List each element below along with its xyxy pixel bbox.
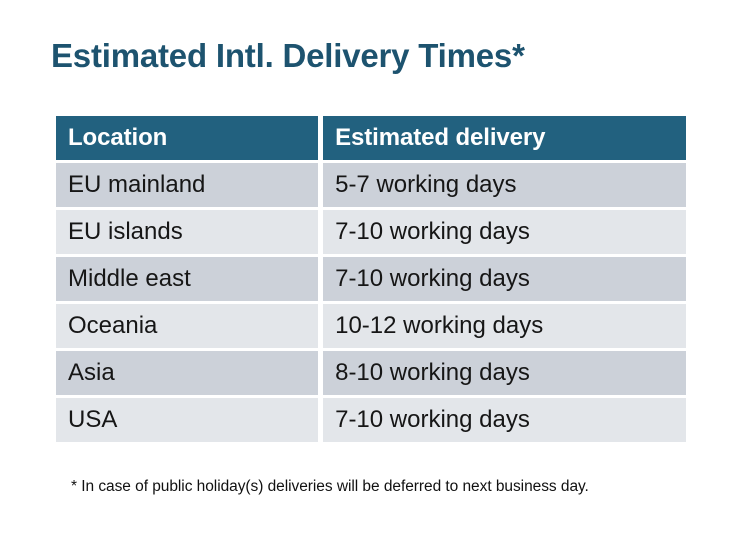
cell-delivery: 7-10 working days [323, 257, 686, 301]
cell-location: Middle east [56, 257, 318, 301]
cell-location: USA [56, 398, 318, 442]
cell-delivery: 7-10 working days [323, 210, 686, 254]
cell-location: Oceania [56, 304, 318, 348]
cell-location: EU islands [56, 210, 318, 254]
footnote: * In case of public holiday(s) deliverie… [71, 478, 589, 496]
table-body: EU mainland 5-7 working days EU islands … [56, 163, 686, 442]
cell-delivery: 5-7 working days [323, 163, 686, 207]
cell-delivery: 10-12 working days [323, 304, 686, 348]
cell-location: Asia [56, 351, 318, 395]
table-header-row: Location Estimated delivery [56, 116, 686, 160]
table-row: EU islands 7-10 working days [56, 210, 686, 254]
column-header-estimated-delivery: Estimated delivery [323, 116, 686, 160]
table-row: USA 7-10 working days [56, 398, 686, 442]
table-row: EU mainland 5-7 working days [56, 163, 686, 207]
estimated-delivery-table: Location Estimated delivery EU mainland … [51, 113, 691, 445]
table-row: Middle east 7-10 working days [56, 257, 686, 301]
table-header: Location Estimated delivery [56, 116, 686, 160]
page-title: Estimated Intl. Delivery Times* [51, 38, 525, 74]
cell-location: EU mainland [56, 163, 318, 207]
table-row: Oceania 10-12 working days [56, 304, 686, 348]
cell-delivery: 8-10 working days [323, 351, 686, 395]
cell-delivery: 7-10 working days [323, 398, 686, 442]
delivery-times-card: Estimated Intl. Delivery Times* Location… [0, 0, 745, 536]
column-header-location: Location [56, 116, 318, 160]
table-row: Asia 8-10 working days [56, 351, 686, 395]
